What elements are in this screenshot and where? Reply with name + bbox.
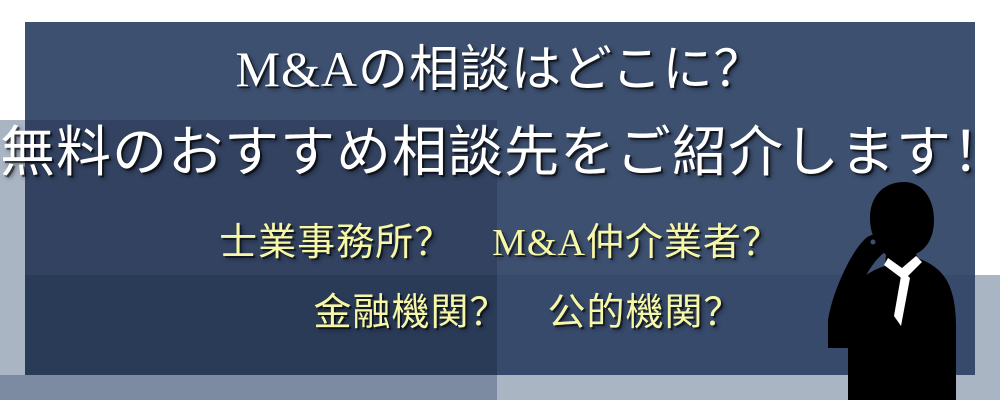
headline-line-2: 無料のおすすめ相談先をご紹介します！ [0, 125, 1000, 180]
promo-banner: M&Aの相談はどこに？ 無料のおすすめ相談先をご紹介します！ 士業事務所？ M&… [0, 0, 1000, 400]
light-accent-shade-strip [0, 375, 497, 400]
businessman-on-phone-silhouette-icon [828, 176, 998, 400]
headline-line-1: M&Aの相談はどこに？ [0, 44, 1000, 94]
